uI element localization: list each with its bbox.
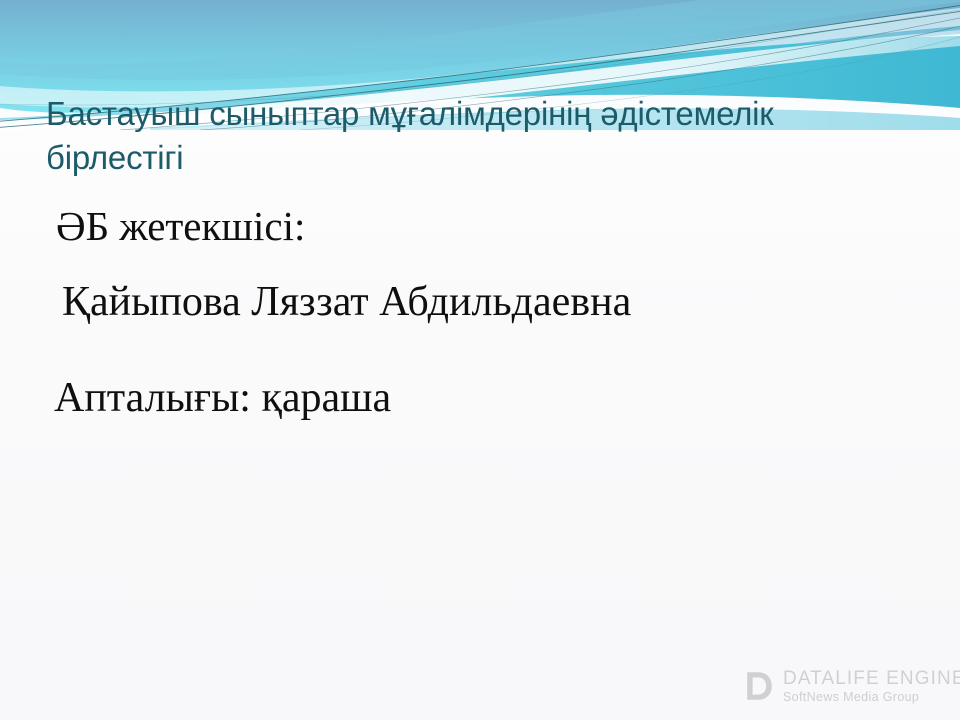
leader-name: Қайыпова Ляззат Абдильдаевна [52,281,932,323]
presentation-slide: Бастауыш сыныптар мұғалімдерінің әдістем… [0,0,960,720]
datalife-d-logo-icon [744,670,774,702]
slide-title-block: Бастауыш сыныптар мұғалімдерінің әдістем… [46,92,846,180]
schedule-line: Апталығы: қараша [52,377,932,419]
page-title: Бастауыш сыныптар мұғалімдерінің әдістем… [46,92,846,180]
watermark-secondary: SoftNews Media Group [783,691,960,704]
watermark: DataLife Engine SoftNews Media Group [744,664,940,708]
watermark-text: DataLife Engine SoftNews Media Group [783,669,960,704]
body-spacer [52,323,932,377]
watermark-primary: DataLife Engine [783,669,960,688]
slide-body-block: ӘБ жетекшісі: Қайыпова Ляззат Абдильдаев… [52,206,932,419]
leader-label: ӘБ жетекшісі: [52,206,932,247]
